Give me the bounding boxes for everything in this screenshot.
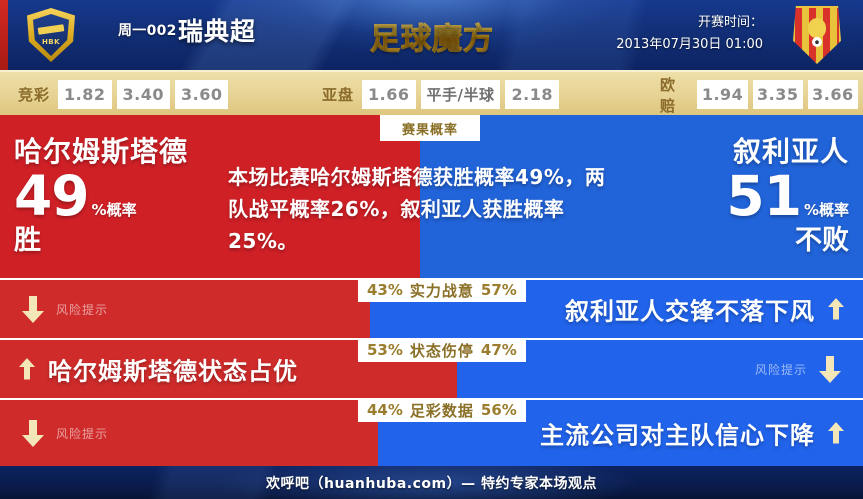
odds-cell[interactable]: 1.94 (697, 80, 747, 109)
risk-warning: 风险提示 (20, 294, 108, 324)
odds-group-label: 欧赔 (660, 74, 689, 116)
home-probability-suffix: %概率 (92, 203, 137, 218)
comparison-row: 53% 状态伤停 47% 哈尔姆斯塔德状态占优 风险提示 (0, 340, 863, 398)
risk-warning: 风险提示 (20, 418, 108, 448)
section-tag-result-probability: 赛果概率 (380, 115, 480, 141)
match-preview-infographic: HBK 周一002 瑞典超 足球魔方 开赛时间： 2013年07月30日 01:… (0, 0, 863, 499)
home-outcome-label: 胜 (14, 226, 188, 256)
comparison-headline-text: 叙利亚人交锋不落下风 (565, 292, 815, 327)
odds-group-label: 竞彩 (18, 84, 50, 105)
odds-bar: 竞彩 1.82 3.40 3.60 亚盘 1.66 平手/半球 2.18 欧赔 … (0, 70, 863, 115)
arrow-up-icon (18, 358, 36, 380)
comparison-row: 43% 实力战意 57% 风险提示 叙利亚人交锋不落下风 (0, 280, 863, 338)
match-number: 周一002 (118, 20, 177, 40)
probability-summary-text: 本场比赛哈尔姆斯塔德获胜概率49%，两队战平概率26%，叙利亚人获胜概率25%。 (228, 161, 618, 257)
footer-bar: 欢呼吧（huanhuba.com）— 特约专家本场观点 (0, 466, 863, 499)
odds-cell[interactable]: 3.60 (175, 80, 228, 109)
comparison-headline: 叙利亚人交锋不落下风 (565, 292, 845, 327)
odds-cell[interactable]: 3.35 (753, 80, 803, 109)
home-probability-line: 49 %概率 (14, 169, 188, 224)
comparison-right-percent: 47% (481, 341, 517, 359)
header-accent-bar (0, 0, 8, 70)
odds-group-label: 亚盘 (322, 84, 354, 105)
comparison-left-percent: 43% (367, 281, 403, 299)
odds-group-oupei: 欧赔 1.94 3.35 3.66 (660, 72, 863, 117)
arrow-up-icon (827, 422, 845, 444)
soccer-ball-icon (812, 37, 822, 47)
footer-credit-text: 欢呼吧（huanhuba.com）— 特约专家本场观点 (266, 473, 597, 493)
kickoff-value: 2013年07月30日 01:00 (533, 34, 763, 56)
comparison-row: 44% 足彩数据 56% 风险提示 主流公司对主队信心下降 (0, 400, 863, 466)
home-team-crest-icon: HBK (22, 6, 80, 64)
odds-group-yapan: 亚盘 1.66 平手/半球 2.18 (322, 72, 564, 117)
arrow-up-icon (827, 298, 845, 320)
comparison-metric-name: 状态伤停 (410, 340, 474, 361)
away-probability-value: 51 (726, 169, 801, 224)
header-bar: HBK 周一002 瑞典超 足球魔方 开赛时间： 2013年07月30日 01:… (0, 0, 863, 70)
away-probability-block: 叙利亚人 51 %概率 不败 (726, 135, 849, 256)
comparison-metric-name: 足彩数据 (410, 400, 474, 421)
odds-cell[interactable]: 1.66 (362, 80, 415, 109)
kickoff-info: 开赛时间： 2013年07月30日 01:00 (533, 12, 763, 56)
comparison-headline: 主流公司对主队信心下降 (540, 416, 845, 451)
odds-cell[interactable]: 1.82 (58, 80, 111, 109)
odds-group-jingcai: 竞彩 1.82 3.40 3.60 (18, 72, 233, 117)
probability-panel: 赛果概率 哈尔姆斯塔德 49 %概率 胜 叙利亚人 51 %概率 不败 本场比赛… (0, 115, 863, 278)
odds-cell-handicap[interactable]: 平手/半球 (421, 80, 501, 109)
comparison-headline-text: 哈尔姆斯塔德状态占优 (48, 352, 298, 387)
comparison-badge: 44% 足彩数据 56% (358, 398, 526, 422)
comparison-headline: 哈尔姆斯塔德状态占优 (18, 352, 298, 387)
comparison-left-percent: 53% (367, 341, 403, 359)
risk-warning-label: 风险提示 (56, 425, 108, 442)
brand-logo: 足球魔方 (362, 12, 502, 56)
risk-warning-label: 风险提示 (755, 361, 807, 378)
away-probability-line: 51 %概率 (726, 169, 849, 224)
risk-warning-label: 风险提示 (56, 301, 108, 318)
odds-cell[interactable]: 2.18 (505, 80, 558, 109)
away-team-crest-icon (789, 4, 845, 66)
risk-warning: 风险提示 (755, 354, 843, 384)
kickoff-label: 开赛时间： (533, 12, 763, 34)
comparison-metric-name: 实力战意 (410, 280, 474, 301)
home-probability-block: 哈尔姆斯塔德 49 %概率 胜 (14, 135, 188, 256)
brand-logo-text: 足球魔方 (362, 14, 502, 58)
crest-badge-shape (808, 18, 826, 38)
comparison-right-percent: 57% (481, 281, 517, 299)
arrow-down-icon (20, 418, 46, 448)
league-name: 瑞典超 (178, 12, 256, 48)
home-probability-value: 49 (14, 169, 89, 224)
comparison-badge: 43% 实力战意 57% (358, 278, 526, 302)
odds-cell[interactable]: 3.40 (117, 80, 170, 109)
away-outcome-label: 不败 (726, 226, 849, 256)
arrow-down-icon (817, 354, 843, 384)
comparison-headline-text: 主流公司对主队信心下降 (540, 416, 815, 451)
away-probability-suffix: %概率 (804, 203, 849, 218)
arrow-down-icon (20, 294, 46, 324)
comparison-badge: 53% 状态伤停 47% (358, 338, 526, 362)
comparison-left-percent: 44% (367, 401, 403, 419)
crest-label: HBK (22, 38, 80, 46)
comparison-right-percent: 56% (481, 401, 517, 419)
odds-cell[interactable]: 3.66 (808, 80, 858, 109)
